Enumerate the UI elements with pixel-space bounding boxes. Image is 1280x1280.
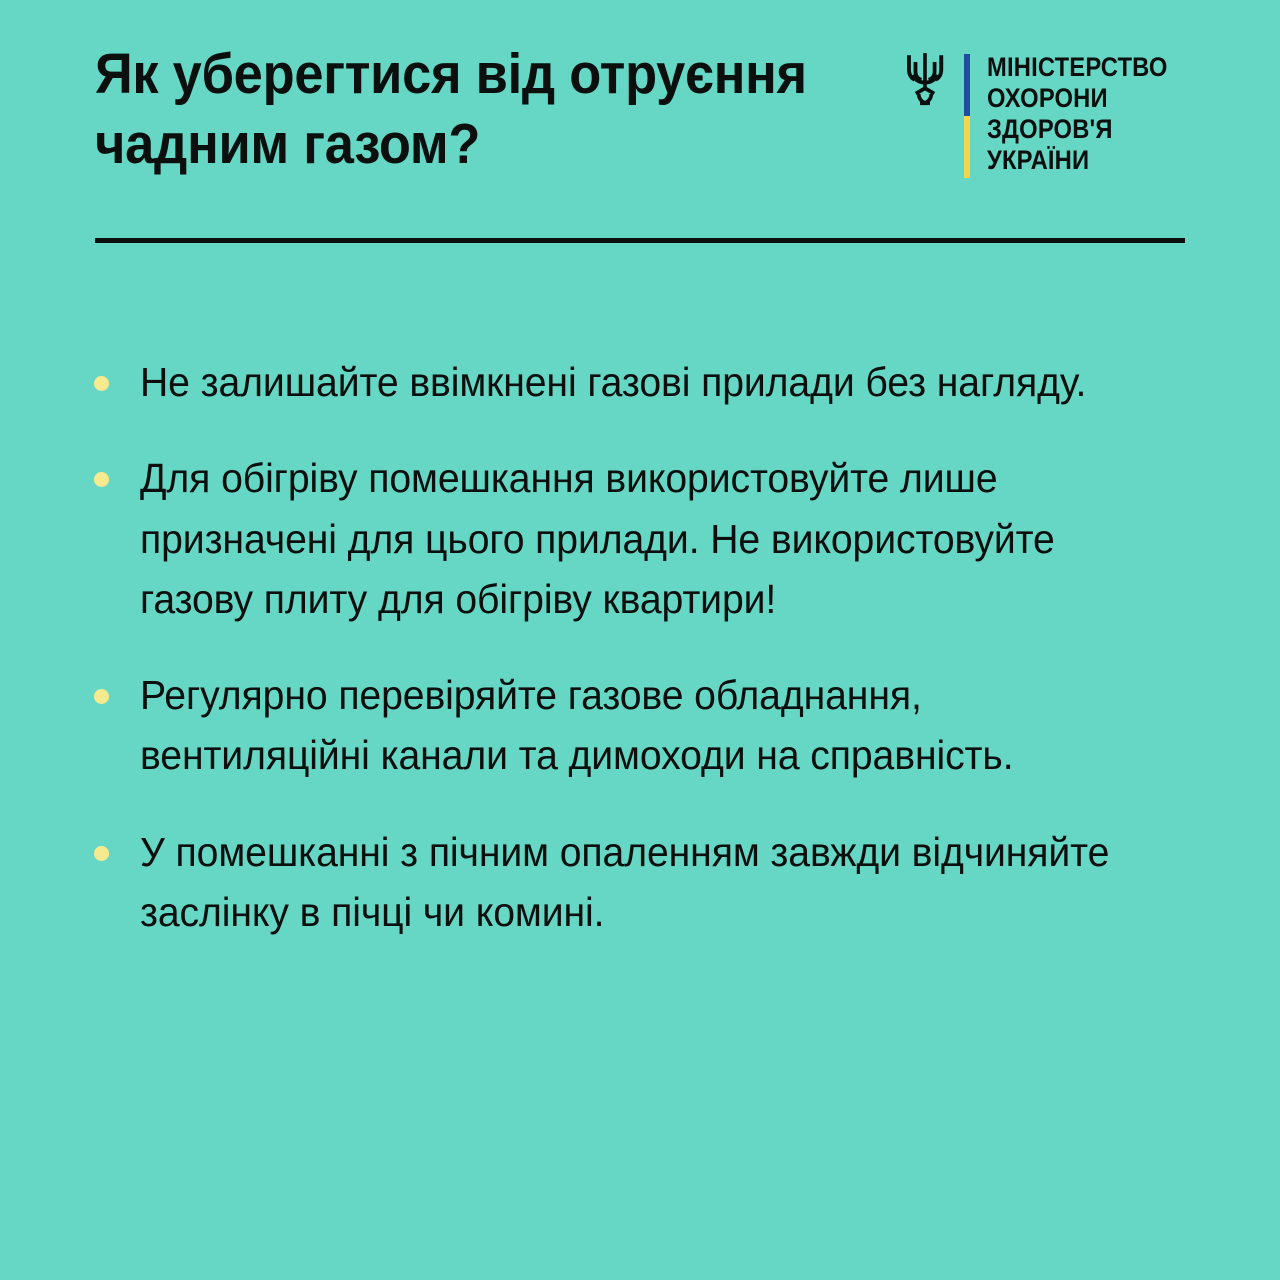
header-divider-rule — [95, 238, 1185, 243]
bullet-dot-icon — [94, 846, 109, 861]
list-item: Регулярно перевіряйте газове обладнання,… — [88, 665, 1198, 786]
ukrainian-trident-icon — [904, 53, 946, 109]
list-item: Не залишайте ввімкнені газові прилади бе… — [88, 352, 1198, 412]
bullet-dot-icon — [94, 689, 109, 704]
list-item: Для обігріву помешкання використовуйте л… — [88, 448, 1198, 629]
logo-line-4: УКРАЇНИ — [987, 145, 1168, 176]
infographic-poster: Як уберегтися від отруєння чадним газом? — [0, 0, 1280, 1280]
bullet-dot-icon — [94, 472, 109, 487]
poster-header: Як уберегтися від отруєння чадним газом? — [0, 0, 1280, 210]
list-item-text: Для обігріву помешкання використовуйте л… — [140, 448, 1150, 629]
flag-divider-bar — [964, 54, 970, 178]
logo-line-3: ЗДОРОВ'Я — [987, 114, 1168, 145]
logo-line-1: МІНІСТЕРСТВО — [987, 52, 1168, 83]
ministry-logo: МІНІСТЕРСТВО ОХОРОНИ ЗДОРОВ'Я УКРАЇНИ — [904, 52, 1192, 178]
ministry-logo-text: МІНІСТЕРСТВО ОХОРОНИ ЗДОРОВ'Я УКРАЇНИ — [987, 52, 1168, 176]
page-title: Як уберегтися від отруєння чадним газом? — [95, 40, 807, 179]
list-item-text: У помешканні з пічним опаленням завжди в… — [140, 822, 1150, 943]
logo-line-2: ОХОРОНИ — [987, 83, 1168, 114]
list-item-text: Регулярно перевіряйте газове обладнання,… — [140, 665, 1150, 786]
bullet-dot-icon — [94, 376, 109, 391]
safety-tips-list: Не залишайте ввімкнені газові прилади бе… — [88, 352, 1198, 942]
list-item-text: Не залишайте ввімкнені газові прилади бе… — [140, 352, 1150, 412]
list-item: У помешканні з пічним опаленням завжди в… — [88, 822, 1198, 943]
